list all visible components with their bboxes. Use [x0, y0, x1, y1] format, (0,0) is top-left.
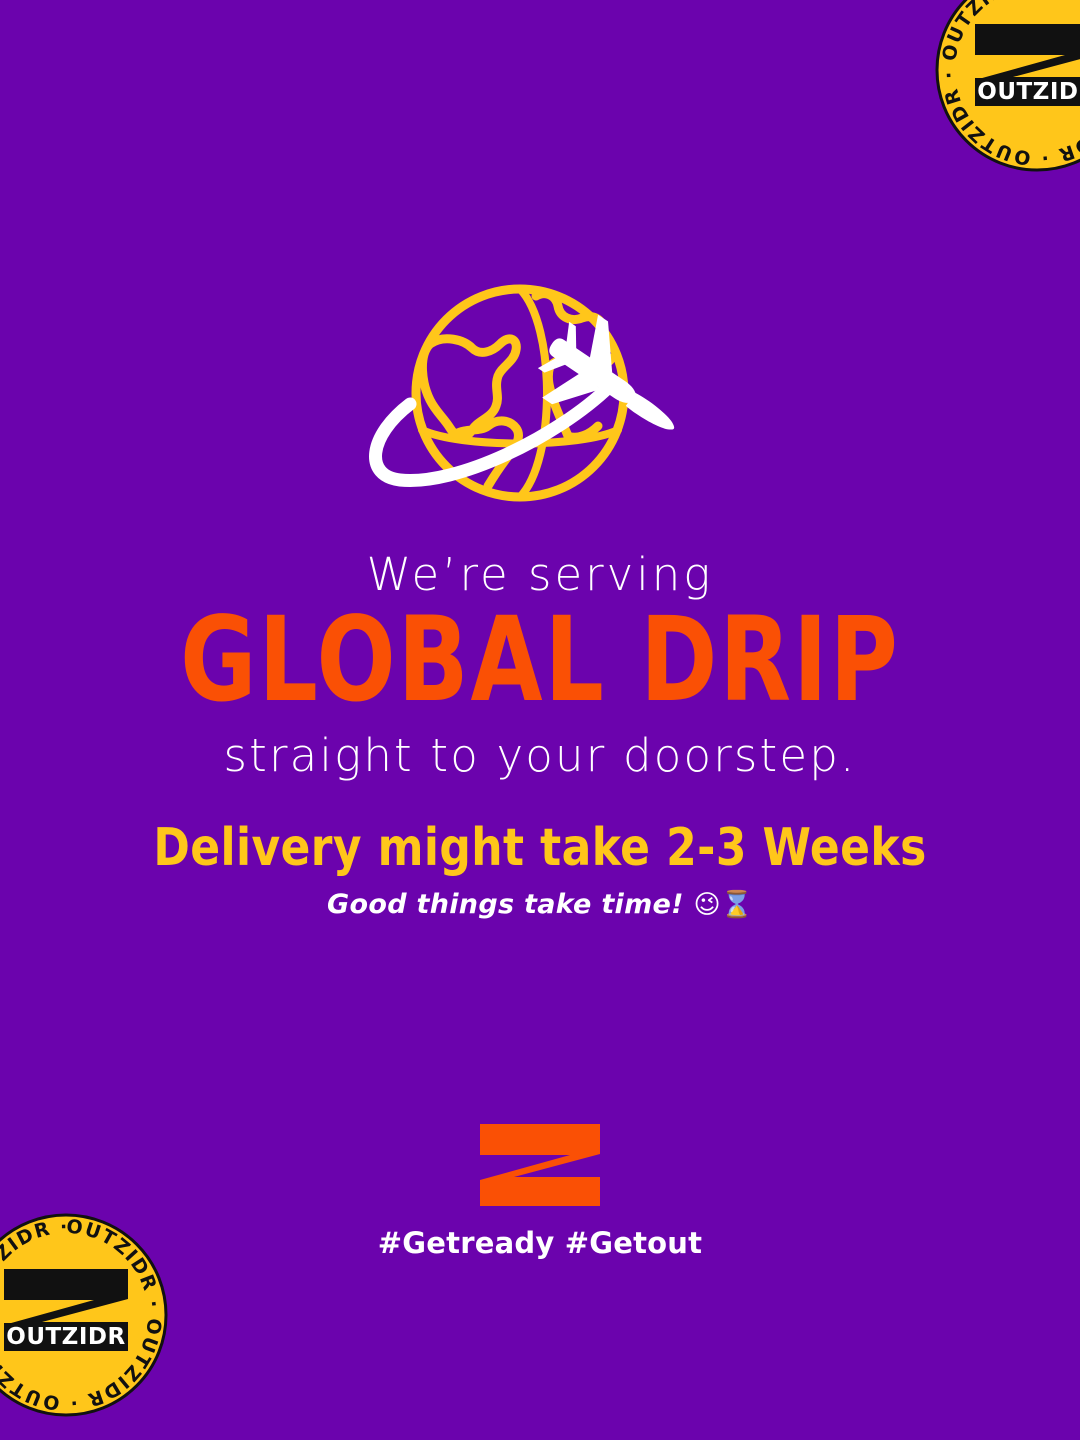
promo-poster: We’re serving GLOBAL DRIP straight to yo… [0, 0, 1080, 1440]
delivery-reassurance: Good things take time! 😉⌛ [0, 890, 1080, 920]
outzidr-stamp-badge-bottom-left: OUTZIDR · OUTZIDR · OUTZIDR · OUTZIDR · … [0, 1213, 168, 1417]
headline-block: We’re serving GLOBAL DRIP straight to yo… [0, 552, 1080, 779]
headline-highlight: GLOBAL DRIP [16, 605, 1064, 716]
globe-airplane-icon [360, 278, 720, 513]
delivery-reassurance-text: Good things take time! [327, 889, 684, 920]
wink-hourglass-emoji: 😉⌛ [693, 890, 752, 920]
outzidr-z-logo [478, 1122, 602, 1208]
stamp-center-wordmark-bottom-left: OUTZIDR [6, 1324, 125, 1350]
delivery-eta-text: Delivery might take 2-3 Weeks [0, 820, 1080, 876]
delivery-info-block: Delivery might take 2-3 Weeks Good thing… [0, 820, 1080, 919]
headline-subline: straight to your doorstep. [0, 732, 1080, 779]
stamp-center-wordmark-top-right: OUTZIDR [977, 79, 1080, 105]
outzidr-stamp-badge-top-right: OUTZIDR · OUTZIDR · OUTZIDR · OUTZIDR · … [935, 0, 1080, 172]
